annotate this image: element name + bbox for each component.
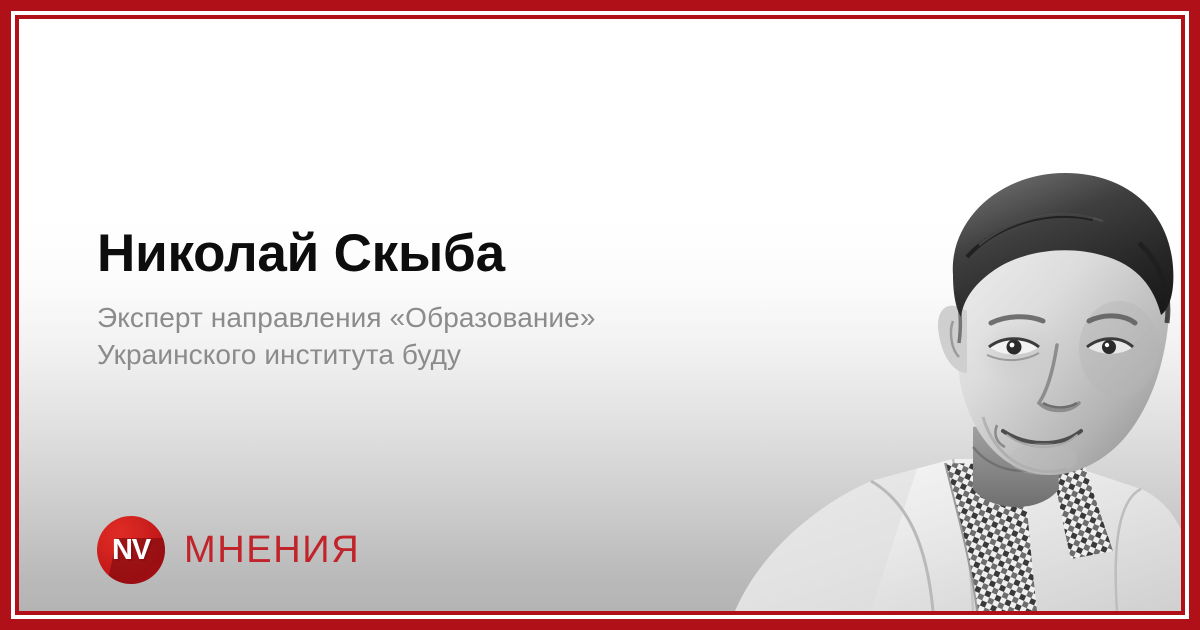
author-role: Эксперт направления «Образование» Украин…: [97, 299, 717, 373]
author-portrait: [721, 159, 1181, 611]
card-stage: Николай Скыба Эксперт направления «Образ…: [19, 19, 1181, 611]
author-text-block: Николай Скыба Эксперт направления «Образ…: [97, 223, 717, 373]
opinion-author-card: Николай Скыба Эксперт направления «Образ…: [0, 0, 1200, 630]
author-role-line-1: Эксперт направления «Образование»: [97, 299, 717, 336]
nv-circle-logo-icon[interactable]: NV: [97, 516, 165, 584]
author-name: Николай Скыба: [97, 223, 717, 285]
brand-section-label: МНЕНИЯ: [184, 531, 360, 569]
author-role-line-2: Украинского института буду: [97, 336, 717, 373]
logo-monogram: NV: [97, 516, 165, 584]
brand-lockup[interactable]: NV МНЕНИЯ: [97, 516, 360, 584]
